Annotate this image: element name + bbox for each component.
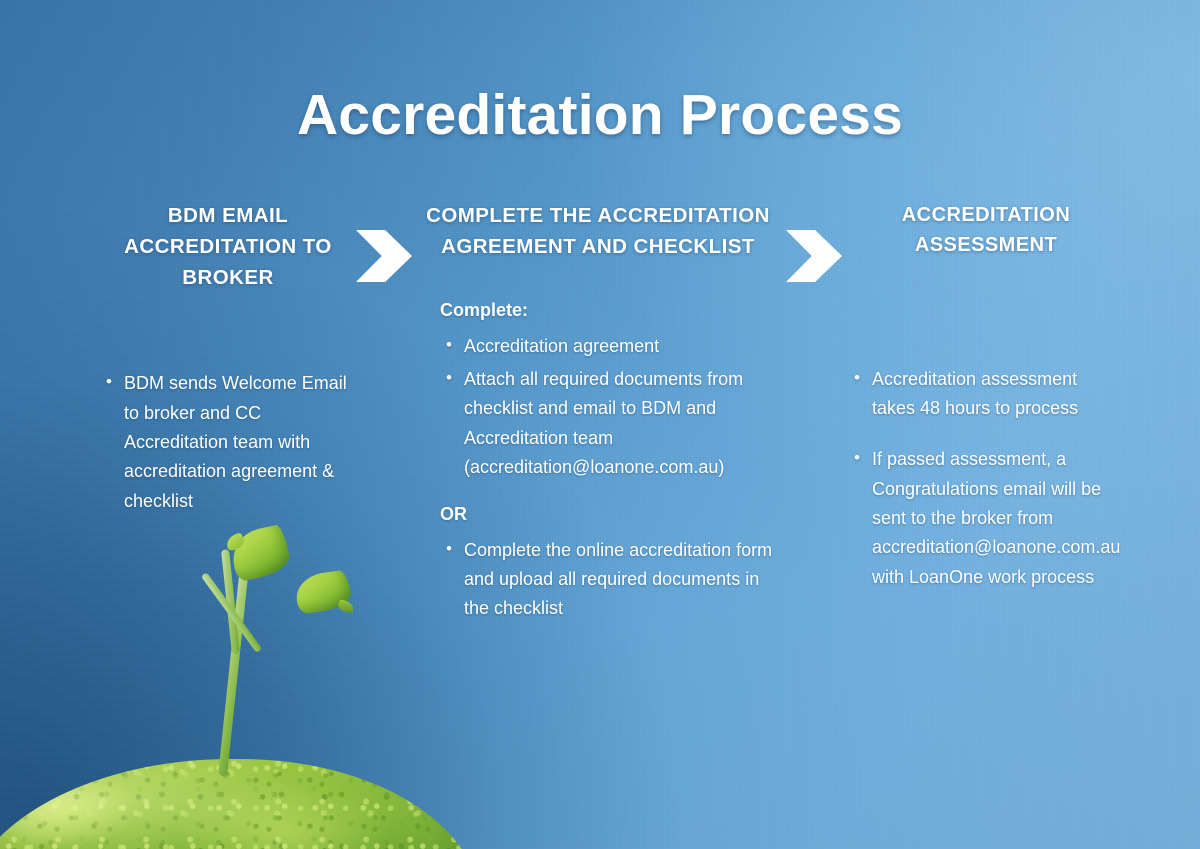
list-item: Complete the online accreditation form a… [440, 536, 778, 624]
step-body: Complete: Accreditation agreement Attach… [418, 296, 778, 623]
chevron-right-icon [786, 230, 842, 282]
step-heading: BDM EMAIL ACCREDITATION TO BROKER [104, 200, 352, 293]
section-label-complete: Complete: [440, 296, 778, 325]
bullet-list: BDM sends Welcome Email to broker and CC… [104, 369, 352, 516]
list-item: BDM sends Welcome Email to broker and CC… [104, 369, 352, 516]
process-step-assessment: ACCREDITATION ASSESSMENT Accreditation a… [852, 200, 1120, 614]
list-item: Attach all required documents from check… [440, 365, 778, 482]
slide-content: Accreditation Process BDM EMAIL ACCREDIT… [0, 0, 1200, 849]
page-title: Accreditation Process [0, 82, 1200, 148]
bullet-list: Complete the online accreditation form a… [440, 536, 778, 624]
list-item: Accreditation assessment takes 48 hours … [852, 365, 1120, 424]
list-item: Accreditation agreement [440, 332, 778, 361]
bullet-list: Accreditation agreement Attach all requi… [440, 332, 778, 483]
bullet-list: Accreditation assessment takes 48 hours … [852, 365, 1120, 592]
section-label-or: OR [440, 500, 778, 529]
accreditation-process-slide: Accreditation Process BDM EMAIL ACCREDIT… [0, 0, 1200, 849]
step-body: Accreditation assessment takes 48 hours … [852, 365, 1120, 592]
process-step-bdm-email: BDM EMAIL ACCREDITATION TO BROKER BDM se… [104, 200, 352, 522]
chevron-right-icon [356, 230, 412, 282]
step-body: BDM sends Welcome Email to broker and CC… [104, 369, 352, 516]
step-heading: COMPLETE THE ACCREDITATION AGREEMENT AND… [418, 200, 778, 262]
list-item: If passed assessment, a Congratulations … [852, 445, 1120, 592]
process-step-complete-agreement: COMPLETE THE ACCREDITATION AGREEMENT AND… [418, 200, 778, 628]
step-heading: ACCREDITATION ASSESSMENT [852, 200, 1120, 261]
